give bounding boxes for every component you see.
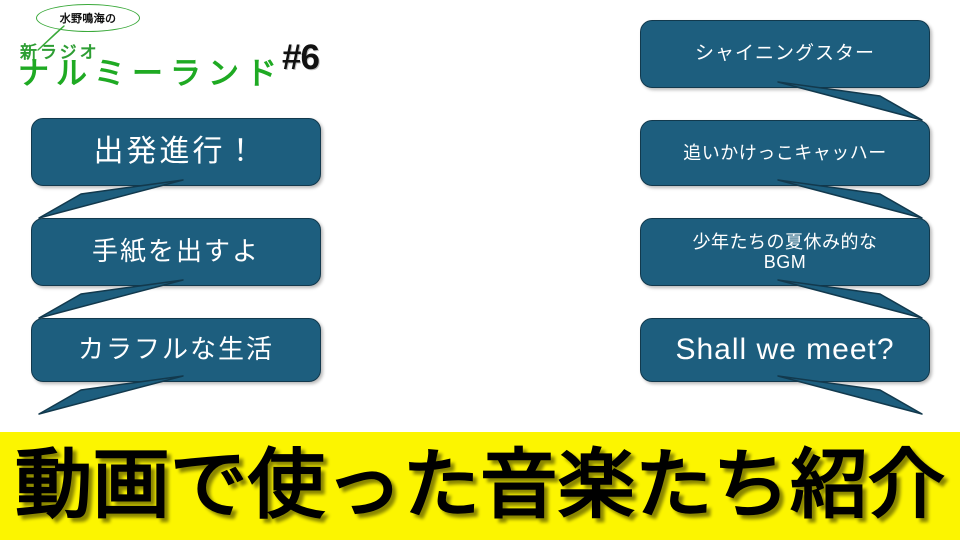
song-title-text: 出発進行！ [84, 135, 269, 169]
show-logo: 水野鳴海の 新ラジオ ナルミーランド [14, 2, 284, 102]
song-title-text: Shall we meet? [665, 333, 904, 367]
bottom-banner: 動画で使った音楽たち紹介 [0, 432, 960, 540]
song-title-text: シャイニングスター [685, 43, 885, 64]
song-bubble-right-1: シャイニングスター [640, 20, 930, 88]
song-bubble-body: 出発進行！ [31, 118, 321, 186]
song-bubble-body: 少年たちの夏休み的な BGM [640, 218, 930, 286]
song-title-text: 追いかけっこキャッハー [673, 143, 897, 163]
song-bubble-left-3: カラフルな生活 [31, 318, 321, 382]
song-bubble-right-3: 少年たちの夏休み的な BGM [640, 218, 930, 286]
slide-canvas: 水野鳴海の 新ラジオ ナルミーランド #6 出発進行！ 手紙を出すよ カラフルな… [0, 0, 960, 540]
banner-headline: 動画で使った音楽たち紹介 [15, 448, 945, 524]
episode-number: #6 [282, 38, 319, 78]
song-bubble-right-4: Shall we meet? [640, 318, 930, 382]
song-bubble-left-2: 手紙を出すよ [31, 218, 321, 286]
song-bubble-left-1: 出発進行！ [31, 118, 321, 186]
song-title-text: 手紙を出すよ [82, 237, 270, 266]
song-bubble-body: 手紙を出すよ [31, 218, 321, 286]
song-title-text: カラフルな生活 [68, 335, 284, 364]
song-bubble-right-2: 追いかけっこキャッハー [640, 120, 930, 186]
show-title: ナルミーランド [18, 58, 284, 89]
song-bubble-body: Shall we meet? [640, 318, 930, 382]
host-name-text: 水野鳴海の [60, 10, 117, 26]
song-bubble-body: 追いかけっこキャッハー [640, 120, 930, 186]
song-bubble-body: シャイニングスター [640, 20, 930, 88]
song-bubble-body: カラフルな生活 [31, 318, 321, 382]
song-title-text: 少年たちの夏休み的な BGM [683, 232, 888, 272]
